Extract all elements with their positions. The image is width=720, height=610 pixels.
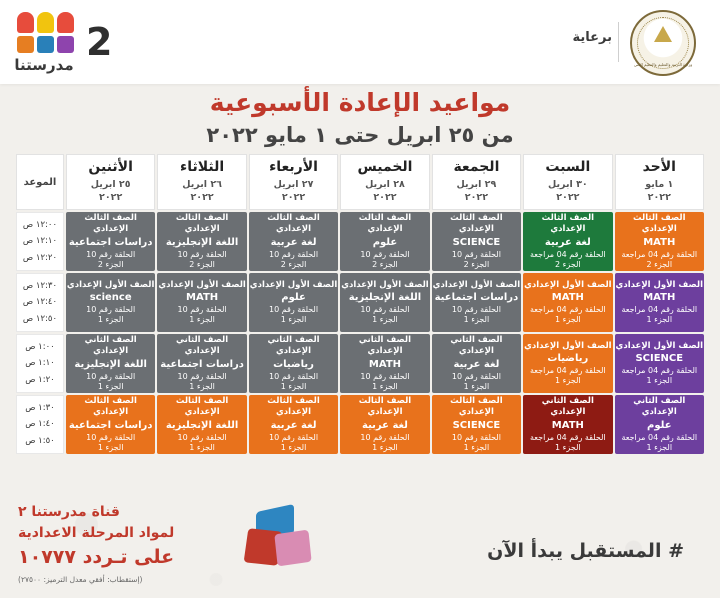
cell-grade: الصف الأول الإعدادي <box>523 341 612 352</box>
day-date: ٢٧ ابريل ٢٠٢٢ <box>250 179 337 205</box>
footer-strip <box>0 598 720 610</box>
cell-grade: الصف الثالث الإعدادي <box>432 396 521 417</box>
day-date: ٢٨ ابريل ٢٠٢٢ <box>341 179 428 205</box>
cell-grade: الصف الثاني الإعدادي <box>523 396 612 417</box>
footer-line-1: قناة مدرستنا ٢ <box>18 502 238 523</box>
day-header-6: الأثنين ٢٥ ابريل ٢٠٢٢ <box>66 154 155 210</box>
cell-subject: SCIENCE <box>615 352 704 365</box>
cell-grade: الصف الأول الإعدادي <box>340 280 429 291</box>
cell-part: الجزء 1 <box>249 382 338 392</box>
cell-subject: علوم <box>615 419 704 432</box>
cell-subject: science <box>66 291 155 304</box>
cell-subject: اللغة الإنجليزية <box>157 419 246 432</box>
day-header-5: الثلاثاء ٢٦ ابريل ٢٠٢٢ <box>157 154 246 210</box>
schedule-cell: الصف الثالث الإعداديلغة عربيةالحلقة رقم … <box>340 395 429 454</box>
footer-line-3: على تـردد ١٠٧٧٧ <box>18 544 238 572</box>
cell-subject: اللغة الإنجليزية <box>157 236 246 249</box>
cell-part: الجزء 2 <box>432 260 521 270</box>
cell-grade: الصف الثالث الإعدادي <box>523 213 612 234</box>
day-header-3: الخميس ٢٨ ابريل ٢٠٢٢ <box>340 154 429 210</box>
schedule-cell: الصف الثالث الإعدادياللغة الإنجليزيةالحل… <box>157 212 246 271</box>
ministry-seal-icon: وزارة التربية والتعليم والتعليم الفني <box>630 10 696 76</box>
footer-line-4: (إستقطاب: أفقي معدل الترميز: ٢٧٥٠٠) <box>18 575 238 584</box>
cell-part: الجزء 1 <box>157 382 246 392</box>
cell-subject: لغة عربية <box>249 236 338 249</box>
cell-subject: اللغة الإنجليزية <box>66 358 155 371</box>
cell-subject: MATH <box>615 236 704 249</box>
schedule-cell: الصف الثاني الإعداديMATHالحلقة رقم 04 مر… <box>523 395 612 454</box>
cell-subject: SCIENCE <box>432 419 521 432</box>
schedule-cell: الصف الأول الإعداديعلومالحلقة رقم 10الجز… <box>249 273 338 332</box>
ministry-logo: وزارة التربية والتعليم والتعليم الفني <box>620 10 706 76</box>
cell-subject: لغة عربية <box>523 236 612 249</box>
schedule-cell: الصف الثالث الإعداديSCIENCEالحلقة رقم 10… <box>432 395 521 454</box>
cell-episode: الحلقة رقم 10 <box>249 372 338 382</box>
schedule-cell: الصف الأول الإعدادياللغة الإنجليزيةالحلق… <box>340 273 429 332</box>
cell-grade: الصف الأول الإعدادي <box>66 280 155 291</box>
day-name: الأحد <box>616 159 703 175</box>
schedule-cell: الصف الثاني الإعداديلغة عربيةالحلقة رقم … <box>432 334 521 393</box>
cell-subject: اللغة الإنجليزية <box>340 291 429 304</box>
schedule-body: الصف الثالث الإعداديMATHالحلقة رقم 04 مر… <box>16 212 704 454</box>
cell-episode: الحلقة رقم 10 <box>432 305 521 315</box>
cell-grade: الصف الثاني الإعدادي <box>432 335 521 356</box>
cell-part: الجزء 1 <box>432 443 521 453</box>
time-slot-cell: ١:٠٠ ص ١:١٠ ص ١:٢٠ ص <box>16 334 64 393</box>
day-name: السبت <box>524 159 611 175</box>
cell-part: الجزء 1 <box>340 382 429 392</box>
cell-episode: الحلقة رقم 10 <box>157 305 246 315</box>
cell-grade: الصف الأول الإعدادي <box>615 341 704 352</box>
cell-grade: الصف الثالث الإعدادي <box>340 213 429 234</box>
cell-subject: علوم <box>249 291 338 304</box>
cell-episode: الحلقة رقم 10 <box>249 250 338 260</box>
day-name: الأثنين <box>67 159 154 175</box>
day-header-0: الأحد ١ مايو ٢٠٢٢ <box>615 154 704 210</box>
day-name: الثلاثاء <box>158 159 245 175</box>
cell-grade: الصف الثالث الإعدادي <box>249 213 338 234</box>
cell-episode: الحلقة رقم 10 <box>249 305 338 315</box>
schedule-cell: الصف الثالث الإعداديلغة عربيةالحلقة رقم … <box>249 395 338 454</box>
day-date: ١ مايو ٢٠٢٢ <box>616 179 703 205</box>
cell-episode: الحلقة رقم 04 مراجعة <box>523 366 612 376</box>
cell-subject: علوم <box>340 236 429 249</box>
cell-subject: MATH <box>157 291 246 304</box>
schedule-cell: الصف الأول الإعداديدراسات اجتماعيةالحلقة… <box>432 273 521 332</box>
cell-subject: دراسات اجتماعية <box>66 236 155 249</box>
day-header-1: السبت ٣٠ ابريل ٢٠٢٢ <box>523 154 612 210</box>
cell-subject: SCIENCE <box>432 236 521 249</box>
cell-episode: الحلقة رقم 10 <box>340 305 429 315</box>
cell-part: الجزء 1 <box>523 315 612 325</box>
cell-grade: الصف الثالث الإعدادي <box>432 213 521 234</box>
cell-subject: رياضيات <box>249 358 338 371</box>
page-title: مواعيد الإعادة الأسبوعية <box>0 88 720 117</box>
cell-episode: الحلقة رقم 10 <box>249 433 338 443</box>
day-date: ٢٩ ابريل ٢٠٢٢ <box>433 179 520 205</box>
cell-grade: الصف الأول الإعدادي <box>157 280 246 291</box>
cell-part: الجزء 1 <box>157 443 246 453</box>
cell-subject: دراسات اجتماعية <box>157 358 246 371</box>
cell-grade: الصف الأول الإعدادي <box>615 280 704 291</box>
schedule-cell: الصف الثالث الإعداديلغة عربيةالحلقة رقم … <box>249 212 338 271</box>
schedule-cell: الصف الثالث الإعداديMATHالحلقة رقم 04 مر… <box>615 212 704 271</box>
cell-grade: الصف الأول الإعدادي <box>249 280 338 291</box>
cell-part: الجزء 1 <box>523 376 612 386</box>
table-row: الصف الأول الإعداديMATHالحلقة رقم 04 مرا… <box>16 273 704 332</box>
cell-part: الجزء 1 <box>340 315 429 325</box>
day-date: ٢٥ ابريل ٢٠٢٢ <box>67 179 154 205</box>
day-header-2: الجمعة ٢٩ ابريل ٢٠٢٢ <box>432 154 521 210</box>
cell-grade: الصف الأول الإعدادي <box>432 280 521 291</box>
cell-part: الجزء 2 <box>66 260 155 270</box>
schedule-cell: الصف الثالث الإعداديدراسات اجتماعيةالحلق… <box>66 395 155 454</box>
cell-grade: الصف الثاني الإعدادي <box>615 396 704 417</box>
schedule-cell: الصف الأول الإعداديMATHالحلقة رقم 04 مرا… <box>615 273 704 332</box>
brand-name: مدرستنا <box>14 56 74 74</box>
cell-grade: الصف الثاني الإعدادي <box>157 335 246 356</box>
cell-part: الجزء 2 <box>615 260 704 270</box>
schedule-table: الأحد ١ مايو ٢٠٢٢ السبت ٣٠ ابريل ٢٠٢٢ ال… <box>14 152 706 456</box>
cell-subject: لغة عربية <box>432 358 521 371</box>
cell-grade: الصف الثالث الإعدادي <box>249 396 338 417</box>
day-name: الجمعة <box>433 159 520 175</box>
cell-subject: لغة عربية <box>340 419 429 432</box>
footer-line-2: لمواد المرحلة الاعدادية <box>18 523 238 544</box>
schedule-cell: الصف الثالث الإعداديلغة عربيةالحلقة رقم … <box>523 212 612 271</box>
schedule-cell: الصف الأول الإعداديscienceالحلقة رقم 10ا… <box>66 273 155 332</box>
cell-episode: الحلقة رقم 10 <box>432 433 521 443</box>
cell-grade: الصف الأول الإعدادي <box>523 280 612 291</box>
page-subtitle: من ٢٥ ابريل حتى ١ مايو ٢٠٢٢ <box>0 123 720 147</box>
cell-part: الجزء 1 <box>157 315 246 325</box>
cell-episode: الحلقة رقم 10 <box>340 433 429 443</box>
cell-part: الجزء 1 <box>66 315 155 325</box>
time-slot-cell: ١:٣٠ ص ١:٤٠ ص ١:٥٠ ص <box>16 395 64 454</box>
cell-episode: الحلقة رقم 10 <box>340 372 429 382</box>
cell-episode: الحلقة رقم 04 مراجعة <box>523 250 612 260</box>
schedule-cell: الصف الثالث الإعدادياللغة الإنجليزيةالحل… <box>157 395 246 454</box>
cell-part: الجزء 1 <box>615 376 704 386</box>
cell-subject: دراسات اجتماعية <box>66 419 155 432</box>
cell-part: الجزء 1 <box>249 315 338 325</box>
schedule-cell: الصف الثالث الإعداديدراسات اجتماعيةالحلق… <box>66 212 155 271</box>
cell-part: الجزء 1 <box>615 315 704 325</box>
cell-part: الجزء 2 <box>340 260 429 270</box>
cell-episode: الحلقة رقم 10 <box>66 305 155 315</box>
cell-subject: MATH <box>523 291 612 304</box>
cell-episode: الحلقة رقم 04 مراجعة <box>523 433 612 443</box>
cell-subject: MATH <box>615 291 704 304</box>
cell-part: الجزء 1 <box>66 382 155 392</box>
header-bar: وزارة التربية والتعليم والتعليم الفني بر… <box>0 0 720 84</box>
table-row: الصف الثالث الإعداديMATHالحلقة رقم 04 مر… <box>16 212 704 271</box>
day-date: ٣٠ ابريل ٢٠٢٢ <box>524 179 611 205</box>
time-column-header: الموعد <box>16 154 64 210</box>
cell-episode: الحلقة رقم 04 مراجعة <box>615 433 704 443</box>
table-row: الصف الثاني الإعداديعلومالحلقة رقم 04 مر… <box>16 395 704 454</box>
cell-part: الجزء 2 <box>523 260 612 270</box>
footer-channel-info: قناة مدرستنا ٢ لمواد المرحلة الاعدادية ع… <box>18 502 238 584</box>
cell-episode: الحلقة رقم 10 <box>432 372 521 382</box>
cell-grade: الصف الثاني الإعدادي <box>66 335 155 356</box>
cell-episode: الحلقة رقم 10 <box>157 372 246 382</box>
table-row: الصف الأول الإعداديSCIENCEالحلقة رقم 04 … <box>16 334 704 393</box>
cell-episode: الحلقة رقم 04 مراجعة <box>523 305 612 315</box>
cell-episode: الحلقة رقم 10 <box>157 433 246 443</box>
cell-episode: الحلقة رقم 04 مراجعة <box>615 366 704 376</box>
cell-episode: الحلقة رقم 04 مراجعة <box>615 250 704 260</box>
cell-episode: الحلقة رقم 10 <box>66 372 155 382</box>
cell-subject: دراسات اجتماعية <box>432 291 521 304</box>
time-slot-cell: ١٢:٠٠ ص ١٢:١٠ ص ١٢:٢٠ ص <box>16 212 64 271</box>
cell-grade: الصف الثاني الإعدادي <box>340 335 429 356</box>
cell-part: الجزء 2 <box>157 260 246 270</box>
cell-part: الجزء 1 <box>432 315 521 325</box>
cell-grade: الصف الثاني الإعدادي <box>249 335 338 356</box>
cell-grade: الصف الثالث الإعدادي <box>66 396 155 417</box>
schedule-cell: الصف الثاني الإعداديعلومالحلقة رقم 04 مر… <box>615 395 704 454</box>
schedule-cell: الصف الأول الإعداديMATHالحلقة رقم 04 مرا… <box>523 273 612 332</box>
table-header-row: الأحد ١ مايو ٢٠٢٢ السبت ٣٠ ابريل ٢٠٢٢ ال… <box>16 154 704 210</box>
cell-part: الجزء 2 <box>249 260 338 270</box>
schedule-cell: الصف الأول الإعداديMATHالحلقة رقم 10الجز… <box>157 273 246 332</box>
cell-part: الجزء 1 <box>249 443 338 453</box>
cell-episode: الحلقة رقم 10 <box>432 250 521 260</box>
cell-episode: الحلقة رقم 04 مراجعة <box>615 305 704 315</box>
cell-grade: الصف الثالث الإعدادي <box>615 213 704 234</box>
schedule-cell: الصف الثاني الإعداديMATHالحلقة رقم 10الج… <box>340 334 429 393</box>
cell-part: الجزء 1 <box>66 443 155 453</box>
cell-subject: MATH <box>340 358 429 371</box>
cell-part: الجزء 1 <box>340 443 429 453</box>
schedule-cell: الصف الثاني الإعداديرياضياتالحلقة رقم 10… <box>249 334 338 393</box>
cell-episode: الحلقة رقم 10 <box>340 250 429 260</box>
ministry-seal-text: وزارة التربية والتعليم والتعليم الفني <box>632 62 694 67</box>
day-date: ٢٦ ابريل ٢٠٢٢ <box>158 179 245 205</box>
cell-part: الجزء 1 <box>432 382 521 392</box>
day-name: الأربعاء <box>250 159 337 175</box>
schedule-cell: الصف الأول الإعداديSCIENCEالحلقة رقم 04 … <box>615 334 704 393</box>
page-title-block: مواعيد الإعادة الأسبوعية من ٢٥ ابريل حتى… <box>0 88 720 147</box>
channel-number: 2 <box>86 20 112 64</box>
cell-episode: الحلقة رقم 10 <box>66 250 155 260</box>
cell-subject: رياضيات <box>523 352 612 365</box>
schedule-cell: الصف الأول الإعداديرياضياتالحلقة رقم 04 … <box>523 334 612 393</box>
schedule-cell: الصف الثاني الإعدادياللغة الإنجليزيةالحل… <box>66 334 155 393</box>
day-name: الخميس <box>341 159 428 175</box>
cell-grade: الصف الثالث الإعدادي <box>340 396 429 417</box>
header-divider <box>618 22 619 62</box>
cell-grade: الصف الثالث الإعدادي <box>157 396 246 417</box>
schedule-cell: الصف الثالث الإعداديعلومالحلقة رقم 10الج… <box>340 212 429 271</box>
schedule-cell: الصف الثالث الإعداديSCIENCEالحلقة رقم 10… <box>432 212 521 271</box>
schedule-cell: الصف الثاني الإعداديدراسات اجتماعيةالحلق… <box>157 334 246 393</box>
brand-logo: مدرستنا <box>14 12 74 74</box>
cell-subject: لغة عربية <box>249 419 338 432</box>
day-header-4: الأربعاء ٢٧ ابريل ٢٠٢٢ <box>249 154 338 210</box>
cell-grade: الصف الثالث الإعدادي <box>66 213 155 234</box>
cube-graphic-icon <box>240 508 318 574</box>
time-slot-cell: ١٢:٣٠ ص ١٢:٤٠ ص ١٢:٥٠ ص <box>16 273 64 332</box>
cell-part: الجزء 1 <box>523 443 612 453</box>
cell-subject: MATH <box>523 419 612 432</box>
brand-mark-icon: مدرستنا <box>14 12 74 74</box>
cell-episode: الحلقة رقم 10 <box>157 250 246 260</box>
footer-hashtag: # المستقبل يبدأ الآن <box>487 540 684 562</box>
cell-episode: الحلقة رقم 10 <box>66 433 155 443</box>
cell-part: الجزء 1 <box>615 443 704 453</box>
sponsor-label: برعاية <box>573 30 613 45</box>
cell-grade: الصف الثالث الإعدادي <box>157 213 246 234</box>
